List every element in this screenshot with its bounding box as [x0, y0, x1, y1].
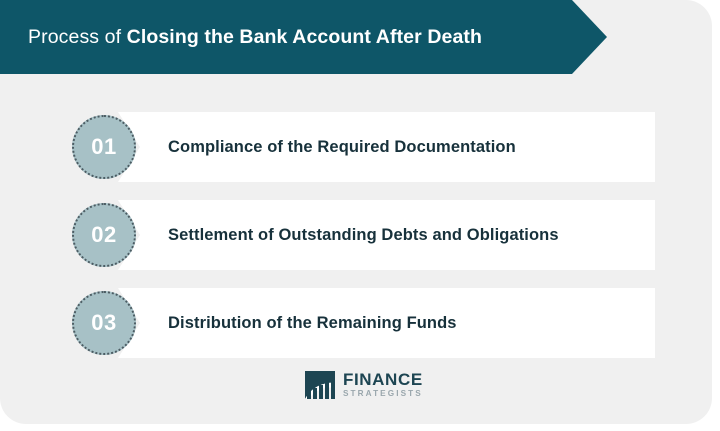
- header-banner: Process of Closing the Bank Account Afte…: [0, 0, 607, 74]
- page-title-prefix: Process of: [28, 26, 127, 48]
- step-number-badge: 02: [72, 203, 136, 267]
- infographic-root: Process of Closing the Bank Account Afte…: [0, 0, 720, 431]
- brand-text: FINANCE STRATEGISTS: [343, 371, 423, 398]
- step-label: Settlement of Outstanding Debts and Obli…: [168, 226, 559, 245]
- step-number: 03: [91, 310, 116, 336]
- steps-list: Compliance of the Required Documentation…: [0, 103, 720, 367]
- list-item: Compliance of the Required Documentation…: [0, 103, 720, 191]
- brand-logo: FINANCE STRATEGISTS: [303, 370, 423, 400]
- step-number: 02: [91, 222, 116, 248]
- step-label: Compliance of the Required Documentation: [168, 138, 516, 157]
- step-number: 01: [91, 134, 116, 160]
- list-item: Settlement of Outstanding Debts and Obli…: [0, 191, 720, 279]
- step-number-badge: 03: [72, 291, 136, 355]
- bar-chart-arc-icon: [303, 370, 337, 400]
- step-card: Distribution of the Remaining Funds: [118, 288, 655, 358]
- step-card: Compliance of the Required Documentation: [118, 112, 655, 182]
- step-card: Settlement of Outstanding Debts and Obli…: [118, 200, 655, 270]
- step-number-badge: 01: [72, 115, 136, 179]
- page-title-emphasis: Closing the Bank Account After Death: [127, 26, 482, 48]
- page-title: Process of Closing the Bank Account Afte…: [28, 26, 482, 49]
- brand-name: FINANCE: [343, 371, 423, 388]
- list-item: Distribution of the Remaining Funds 03: [0, 279, 720, 367]
- brand-tagline: STRATEGISTS: [343, 390, 423, 398]
- step-label: Distribution of the Remaining Funds: [168, 314, 457, 333]
